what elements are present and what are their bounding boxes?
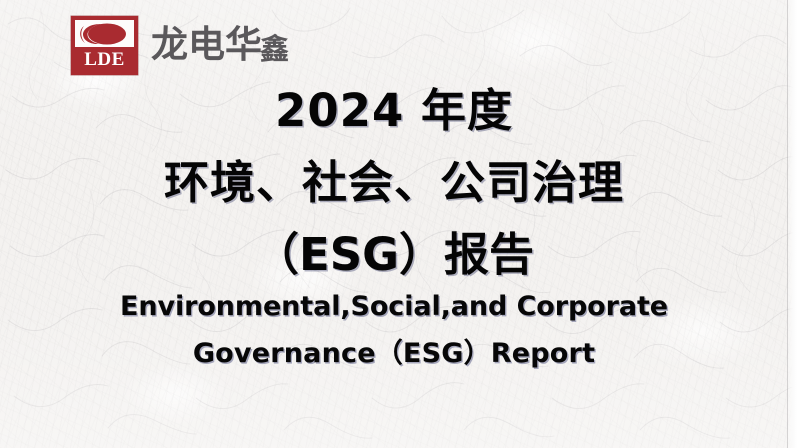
red-ellipse-swoosh-icon — [75, 20, 134, 47]
company-logo[interactable]: LDE 龙电华鑫 — [71, 16, 289, 75]
cover-title-block: 2024 年度 环境、社会、公司治理 （ESG）报告 Environmental… — [0, 88, 788, 367]
logo-abbreviation: LDE — [75, 47, 134, 72]
report-cover-page: LDE 龙电华鑫 2024 年度 环境、社会、公司治理 （ESG）报告 Envi… — [0, 0, 797, 448]
subtitle-line-1: Environmental,Social,and Corporate — [0, 293, 788, 320]
logo-wordmark: 龙电华鑫 — [151, 26, 289, 65]
logo-mark: LDE — [71, 16, 138, 75]
title-line-esg-report: （ESG）报告 — [0, 232, 788, 277]
logo-wordmark-main: 龙电华 — [151, 26, 262, 63]
title-line-year: 2024 年度 — [0, 88, 788, 133]
logo-wordmark-tail: 鑫 — [260, 35, 289, 64]
title-line-topic: 环境、社会、公司治理 — [0, 160, 788, 205]
subtitle-line-2: Governance（ESG）Report — [0, 340, 788, 367]
logo-emblem-plate — [75, 20, 134, 47]
page-right-edge — [788, 0, 797, 448]
